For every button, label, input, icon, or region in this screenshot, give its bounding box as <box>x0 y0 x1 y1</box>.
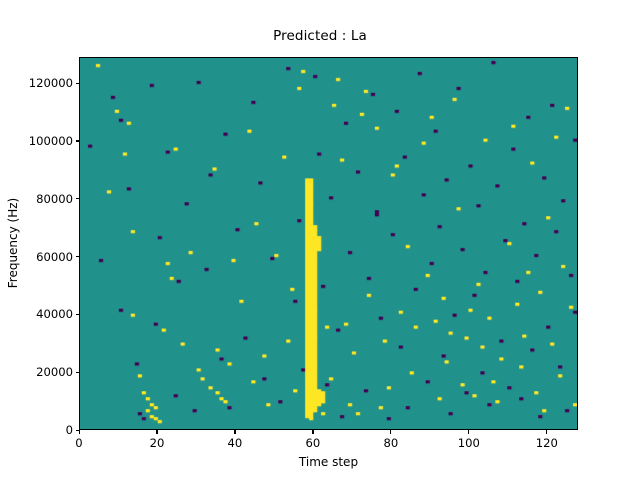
y-tick-mark <box>76 256 80 257</box>
x-tick-mark <box>234 430 235 434</box>
spectrogram-heatmap <box>80 58 577 429</box>
plot-title: Predicted : La <box>0 28 640 44</box>
x-tick-mark <box>79 430 80 434</box>
x-tick-label: 40 <box>210 436 260 450</box>
y-tick-label: 20000 <box>13 365 73 379</box>
y-tick-label: 0 <box>13 423 73 437</box>
y-tick-mark <box>76 198 80 199</box>
y-axis-label: Frequency (Hz) <box>6 113 20 373</box>
y-tick-label: 40000 <box>13 307 73 321</box>
x-tick-label: 60 <box>288 436 338 450</box>
y-tick-mark <box>76 372 80 373</box>
y-tick-label: 100000 <box>13 134 73 148</box>
x-tick-mark <box>390 430 391 434</box>
y-tick-label: 80000 <box>13 192 73 206</box>
x-tick-label: 120 <box>522 436 572 450</box>
matplotlib-figure: Predicted : La Frequency (Hz) Time step … <box>0 0 640 480</box>
y-tick-mark <box>76 83 80 84</box>
x-tick-mark <box>312 430 313 434</box>
heatmap-axes <box>79 57 578 430</box>
x-axis-label: Time step <box>79 455 578 469</box>
x-tick-mark <box>468 430 469 434</box>
y-axis: Frequency (Hz) <box>0 0 79 480</box>
y-tick-mark <box>76 314 80 315</box>
x-tick-label: 100 <box>444 436 494 450</box>
y-tick-mark <box>76 140 80 141</box>
y-tick-label: 60000 <box>13 250 73 264</box>
x-tick-label: 20 <box>132 436 182 450</box>
x-tick-label: 80 <box>366 436 416 450</box>
x-tick-label: 0 <box>54 436 104 450</box>
y-tick-label: 120000 <box>13 76 73 90</box>
x-tick-mark <box>156 430 157 434</box>
x-tick-mark <box>546 430 547 434</box>
